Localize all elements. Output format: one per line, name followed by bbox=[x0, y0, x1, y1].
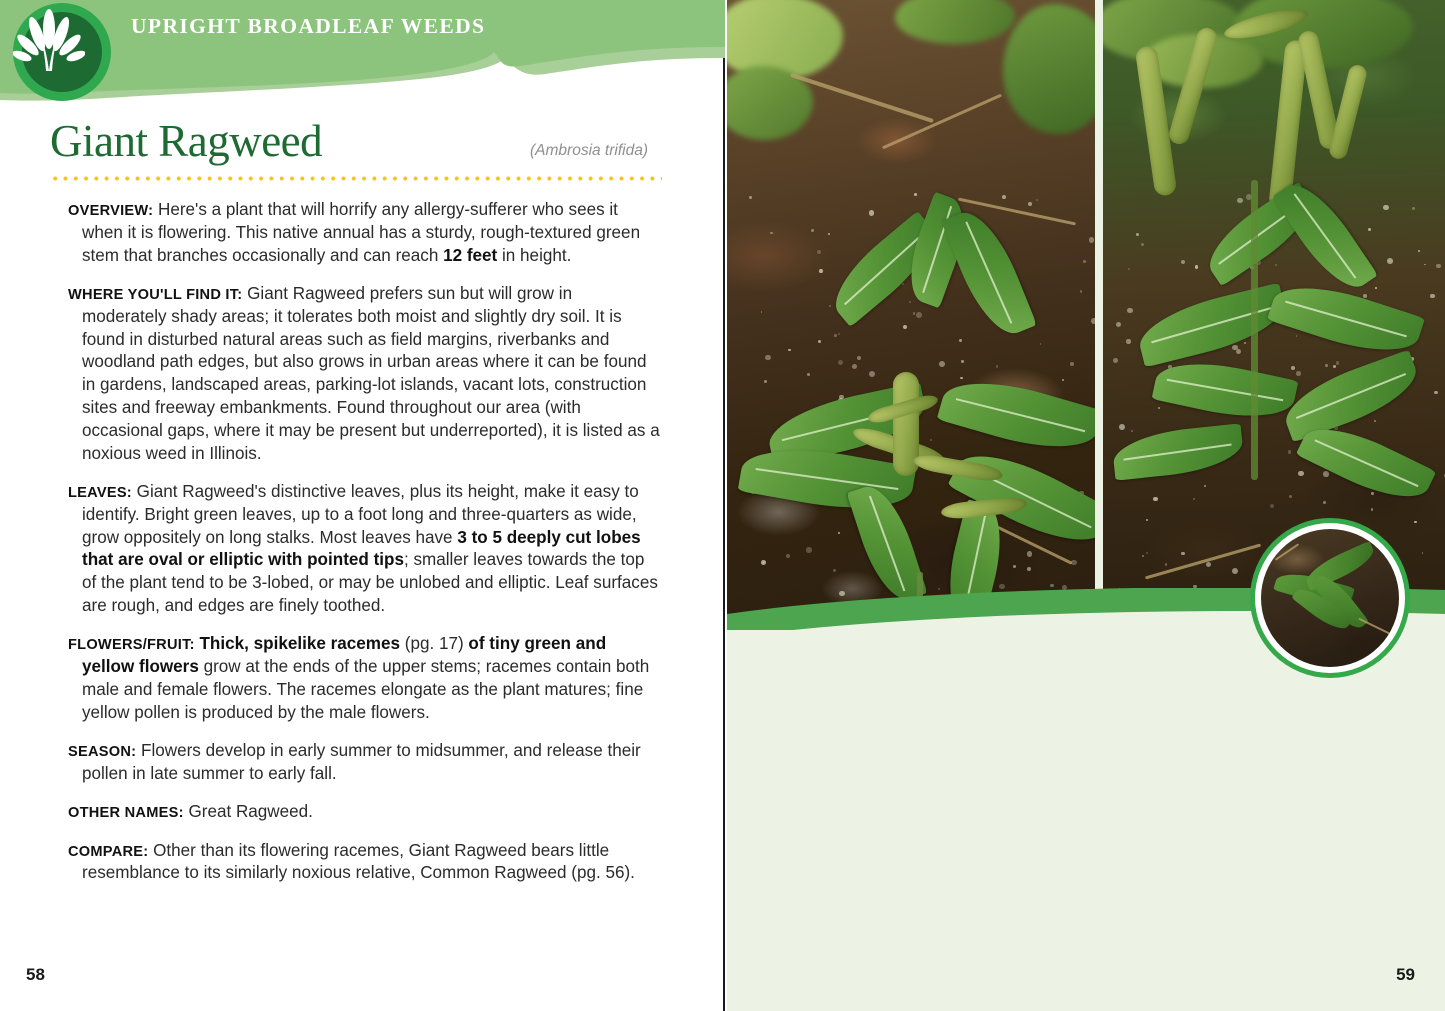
soil-speck bbox=[1270, 504, 1274, 508]
soil-speck bbox=[1089, 237, 1094, 242]
soil-speck bbox=[960, 377, 962, 379]
dry-twig bbox=[1275, 543, 1299, 560]
description-paragraph: WHERE YOU'LL FIND IT: Giant Ragweed pref… bbox=[68, 283, 660, 466]
soil-speck bbox=[909, 301, 911, 303]
soil-speck bbox=[1083, 260, 1086, 263]
description-paragraph: SEASON: Flowers develop in early summer … bbox=[68, 740, 660, 786]
soil-speck bbox=[1141, 243, 1144, 246]
paragraph-label: LEAVES: bbox=[68, 485, 132, 501]
soil-speck bbox=[811, 229, 814, 232]
soil-speck bbox=[1181, 552, 1184, 555]
soil-speck bbox=[1036, 199, 1038, 201]
soil-speck bbox=[939, 361, 945, 367]
soil-speck bbox=[1296, 335, 1298, 337]
soil-speck bbox=[1336, 361, 1340, 365]
soil-speck bbox=[1070, 362, 1074, 366]
soil-speck bbox=[1193, 498, 1195, 500]
soil-speck bbox=[1412, 207, 1415, 210]
gold-dotted-rule bbox=[50, 176, 662, 181]
soil-speck bbox=[930, 439, 932, 441]
soil-speck bbox=[761, 311, 763, 313]
giant-ragweed-leaf-closeup-photo bbox=[1250, 518, 1410, 678]
soil-speck bbox=[1232, 568, 1238, 574]
soil-speck bbox=[1418, 250, 1420, 252]
page-number-left: 58 bbox=[26, 965, 45, 985]
soil-speck bbox=[1128, 268, 1130, 270]
soil-speck bbox=[1142, 555, 1144, 557]
paragraph-label: SEASON: bbox=[68, 744, 136, 760]
soil-speck bbox=[1275, 264, 1277, 266]
description-paragraph: FLOWERS/FRUIT: Thick, spikelike racemes … bbox=[68, 633, 660, 724]
soil-speck bbox=[1136, 233, 1139, 236]
soil-speck bbox=[1333, 365, 1336, 368]
soil-speck bbox=[1237, 198, 1242, 203]
soil-speck bbox=[770, 232, 773, 235]
soil-speck bbox=[1158, 407, 1161, 410]
species-description-body: OVERVIEW: Here's a plant that will horri… bbox=[68, 199, 660, 885]
book-spread: UPRIGHT BROADLEAF WEEDS Giant Ragweed (A… bbox=[0, 0, 1445, 1011]
soil-speck bbox=[838, 333, 841, 336]
soil-speck bbox=[1126, 339, 1130, 343]
soil-speck bbox=[1232, 345, 1238, 351]
soil-speck bbox=[1436, 264, 1440, 268]
soil-speck bbox=[1127, 308, 1133, 314]
soil-speck bbox=[1383, 205, 1389, 211]
inset-white-ring bbox=[1255, 523, 1405, 673]
soil-speck bbox=[1153, 497, 1157, 501]
soil-speck bbox=[788, 349, 790, 351]
soil-speck bbox=[817, 250, 821, 254]
soil-speck bbox=[761, 560, 766, 565]
soil-speck bbox=[961, 360, 963, 362]
description-paragraph: OVERVIEW: Here's a plant that will horri… bbox=[68, 199, 660, 267]
soil-speck bbox=[1291, 366, 1295, 370]
soil-speck bbox=[1050, 584, 1054, 588]
logo-badge bbox=[13, 3, 111, 101]
soil-speck bbox=[1204, 485, 1206, 487]
soil-speck bbox=[914, 193, 917, 196]
soil-speck bbox=[959, 339, 962, 342]
paragraph-text: (pg. 17) bbox=[400, 634, 468, 653]
soil-speck bbox=[1195, 265, 1199, 269]
paragraph-text: Flowers develop in early summer to midsu… bbox=[82, 741, 641, 783]
paragraph-label: FLOWERS/FRUIT: bbox=[68, 637, 195, 653]
soil-speck bbox=[1434, 391, 1438, 395]
soil-speck bbox=[1146, 552, 1148, 554]
soil-speck bbox=[829, 305, 831, 307]
soil-speck bbox=[819, 269, 823, 273]
soil-speck bbox=[916, 312, 922, 318]
soil-speck bbox=[833, 569, 836, 572]
leaf-cluster-glyph bbox=[22, 12, 85, 75]
page-title: Giant Ragweed bbox=[50, 118, 322, 165]
right-page: GETTING RID OF IT!Giant Ragweed has deve… bbox=[727, 0, 1445, 1011]
description-paragraph: OTHER NAMES: Great Ragweed. bbox=[68, 801, 660, 824]
soil-speck bbox=[869, 371, 875, 377]
soil-speck bbox=[818, 340, 821, 343]
soil-speck bbox=[902, 283, 904, 285]
soil-speck bbox=[834, 334, 837, 337]
dry-twig bbox=[1358, 618, 1389, 635]
soil-speck bbox=[1323, 471, 1328, 476]
soil-speck bbox=[1027, 551, 1032, 556]
soil-speck bbox=[1116, 322, 1121, 327]
soil-speck bbox=[1374, 420, 1376, 422]
soil-speck bbox=[1298, 471, 1304, 477]
soil-speck bbox=[1387, 258, 1393, 264]
soil-speck bbox=[838, 360, 843, 365]
soil-speck bbox=[903, 325, 907, 329]
soil-speck bbox=[1131, 430, 1133, 432]
paragraph-text: in height. bbox=[497, 246, 571, 265]
soil-speck bbox=[1371, 492, 1374, 495]
soil-speck bbox=[1325, 364, 1328, 367]
soil-speck bbox=[1430, 294, 1434, 298]
paragraph-label: COMPARE: bbox=[68, 844, 148, 860]
soil-speck bbox=[838, 532, 840, 534]
species-heading-block: Giant Ragweed (Ambrosia trifida) bbox=[50, 118, 662, 165]
soil-speck bbox=[807, 373, 810, 376]
emphasis-text: 12 feet bbox=[443, 246, 497, 265]
soil-speck bbox=[1414, 521, 1417, 524]
left-page: UPRIGHT BROADLEAF WEEDS Giant Ragweed (A… bbox=[0, 0, 725, 1011]
soil-speck bbox=[1368, 228, 1371, 231]
paragraph-text: Giant Ragweed prefers sun but will grow … bbox=[82, 284, 660, 463]
soil-speck bbox=[869, 210, 874, 215]
soil-speck bbox=[1244, 342, 1246, 344]
soil-speck bbox=[1113, 358, 1119, 364]
soil-speck bbox=[786, 554, 790, 558]
description-paragraph: LEAVES: Giant Ragweed's distinctive leav… bbox=[68, 481, 660, 618]
soil-speck bbox=[806, 547, 811, 552]
running-head-label: UPRIGHT BROADLEAF WEEDS bbox=[131, 14, 485, 39]
soil-speck bbox=[764, 380, 767, 383]
giant-ragweed-plant-photo bbox=[727, 0, 1095, 640]
soil-speck bbox=[1206, 562, 1211, 567]
soil-speck bbox=[1422, 552, 1424, 554]
inset-photo-content bbox=[1261, 529, 1399, 667]
emphasis-text: Thick, spikelike racemes bbox=[199, 634, 400, 653]
plant-stem bbox=[1251, 180, 1258, 480]
soil-speck bbox=[765, 355, 770, 360]
soil-speck bbox=[1165, 563, 1168, 566]
paragraph-text: Other than its flowering racemes, Giant … bbox=[82, 841, 635, 883]
paragraph-text: Great Ragweed. bbox=[184, 802, 313, 821]
paragraph-label: OVERVIEW: bbox=[68, 203, 153, 219]
soil-speck bbox=[1289, 495, 1292, 498]
soil-speck bbox=[1062, 379, 1064, 381]
soil-speck bbox=[1371, 508, 1374, 511]
scientific-name: (Ambrosia trifida) bbox=[530, 142, 648, 160]
info-panel-background bbox=[727, 630, 1445, 1011]
photo-divider bbox=[1095, 0, 1103, 640]
soil-speck bbox=[828, 233, 830, 235]
paragraph-label: WHERE YOU'LL FIND IT: bbox=[68, 287, 242, 303]
soil-speck bbox=[1002, 195, 1006, 199]
soil-speck bbox=[996, 365, 998, 367]
soil-speck bbox=[1146, 519, 1148, 521]
soil-speck bbox=[1119, 424, 1125, 430]
running-head-banner: UPRIGHT BROADLEAF WEEDS bbox=[0, 0, 725, 105]
soil-speck bbox=[1296, 371, 1301, 376]
paragraph-label: OTHER NAMES: bbox=[68, 805, 184, 821]
soil-speck bbox=[1375, 287, 1377, 289]
soil-speck bbox=[857, 356, 862, 361]
soil-speck bbox=[1013, 565, 1016, 568]
soil-speck bbox=[1323, 501, 1326, 504]
page-number-right: 59 bbox=[1396, 965, 1415, 985]
soil-speck bbox=[749, 196, 752, 199]
soil-speck bbox=[1288, 450, 1291, 453]
soil-speck bbox=[1027, 567, 1031, 571]
soil-speck bbox=[1028, 202, 1032, 206]
soil-speck bbox=[1424, 264, 1426, 266]
leaf-cluster-icon bbox=[22, 12, 102, 92]
soil-speck bbox=[913, 312, 915, 314]
soil-speck bbox=[852, 364, 857, 369]
soil-speck bbox=[1040, 343, 1042, 345]
description-paragraph: COMPARE: Other than its flowering raceme… bbox=[68, 840, 660, 886]
soil-speck bbox=[1080, 290, 1083, 293]
soil-speck bbox=[1181, 260, 1185, 264]
